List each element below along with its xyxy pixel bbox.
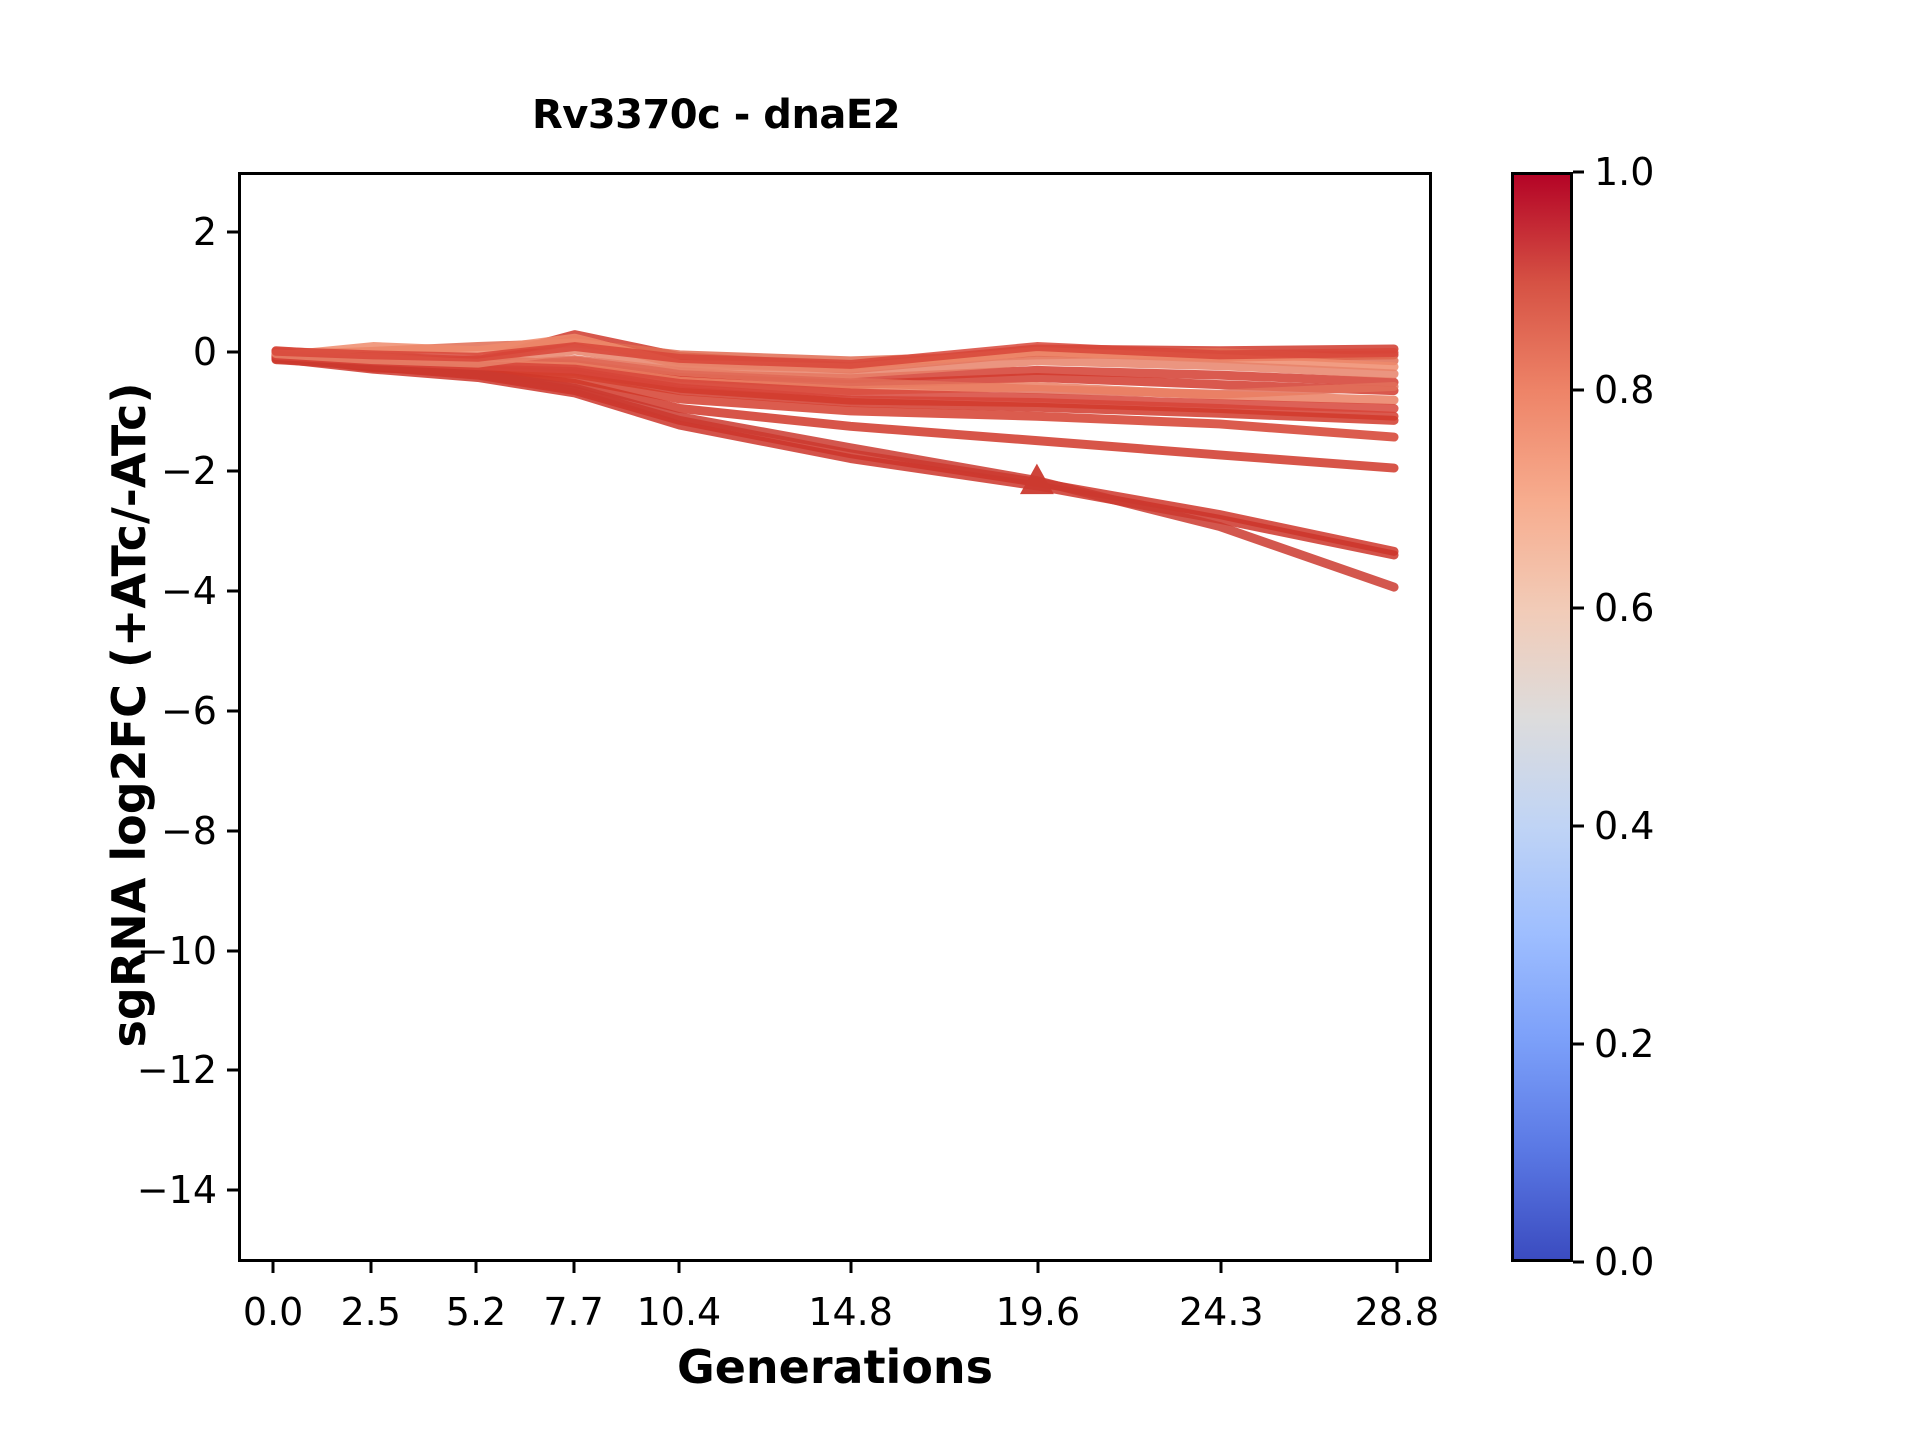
x-tick-label: 5.2 bbox=[446, 1290, 506, 1334]
x-tick-label: 14.8 bbox=[808, 1290, 893, 1334]
x-tick-mark bbox=[1395, 1262, 1398, 1273]
y-tick-mark bbox=[227, 829, 238, 832]
colorbar-tick-mark bbox=[1573, 1043, 1584, 1046]
colorbar-tick-label: 0.0 bbox=[1594, 1240, 1654, 1284]
y-tick-label: −12 bbox=[137, 1048, 217, 1092]
y-tick-mark bbox=[227, 949, 238, 952]
y-tick-label: −14 bbox=[137, 1168, 217, 1212]
x-tick-label: 2.5 bbox=[340, 1290, 400, 1334]
y-tick-label: −6 bbox=[161, 689, 217, 733]
y-tick-label: −4 bbox=[161, 569, 217, 613]
x-tick-mark bbox=[572, 1262, 575, 1273]
y-tick-mark bbox=[227, 590, 238, 593]
x-tick-mark bbox=[475, 1262, 478, 1273]
x-tick-label: 7.7 bbox=[543, 1290, 603, 1334]
colorbar-tick-label: 0.8 bbox=[1594, 368, 1654, 412]
y-tick-label: −2 bbox=[161, 449, 217, 493]
x-tick-label: 28.8 bbox=[1355, 1290, 1440, 1334]
colorbar-tick-label: 0.6 bbox=[1594, 586, 1654, 630]
colorbar-tick-label: 0.2 bbox=[1594, 1022, 1654, 1066]
x-tick-mark bbox=[1036, 1262, 1039, 1273]
colorbar bbox=[1511, 172, 1573, 1262]
colorbar-tick-label: 0.4 bbox=[1594, 804, 1654, 848]
x-tick-label: 24.3 bbox=[1179, 1290, 1264, 1334]
x-tick-label: 19.6 bbox=[996, 1290, 1081, 1334]
colorbar-tick-label: 1.0 bbox=[1594, 150, 1654, 194]
x-axis-label: Generations bbox=[238, 1340, 1432, 1394]
y-tick-label: 2 bbox=[193, 210, 217, 254]
x-tick-mark bbox=[369, 1262, 372, 1273]
colorbar-tick-mark bbox=[1573, 171, 1584, 174]
x-tick-mark bbox=[677, 1262, 680, 1273]
y-tick-mark bbox=[227, 1069, 238, 1072]
series-lines bbox=[241, 175, 1429, 1259]
y-tick-label: −10 bbox=[137, 929, 217, 973]
colorbar-tick-mark bbox=[1573, 825, 1584, 828]
y-axis-label: sgRNA log2FC (+ATc/-ATc) bbox=[102, 170, 156, 1260]
colorbar-tick-mark bbox=[1573, 389, 1584, 392]
chart-figure: Rv3370c - dnaE2 sgRNA log2FC (+ATc/-ATc)… bbox=[0, 0, 1920, 1440]
y-tick-mark bbox=[227, 230, 238, 233]
x-tick-label: 0.0 bbox=[243, 1290, 303, 1334]
plot-area bbox=[238, 172, 1432, 1262]
x-tick-mark bbox=[272, 1262, 275, 1273]
y-tick-mark bbox=[227, 1189, 238, 1192]
x-tick-label: 10.4 bbox=[637, 1290, 722, 1334]
y-tick-mark bbox=[227, 710, 238, 713]
x-tick-mark bbox=[849, 1262, 852, 1273]
y-tick-mark bbox=[227, 470, 238, 473]
page-title: Rv3370c - dnaE2 bbox=[0, 92, 1432, 138]
y-tick-label: −8 bbox=[161, 809, 217, 853]
colorbar-tick-mark bbox=[1573, 1261, 1584, 1264]
y-tick-mark bbox=[227, 350, 238, 353]
colorbar-gradient bbox=[1514, 175, 1570, 1259]
x-tick-mark bbox=[1220, 1262, 1223, 1273]
colorbar-tick-mark bbox=[1573, 607, 1584, 610]
y-tick-label: 0 bbox=[193, 330, 217, 374]
